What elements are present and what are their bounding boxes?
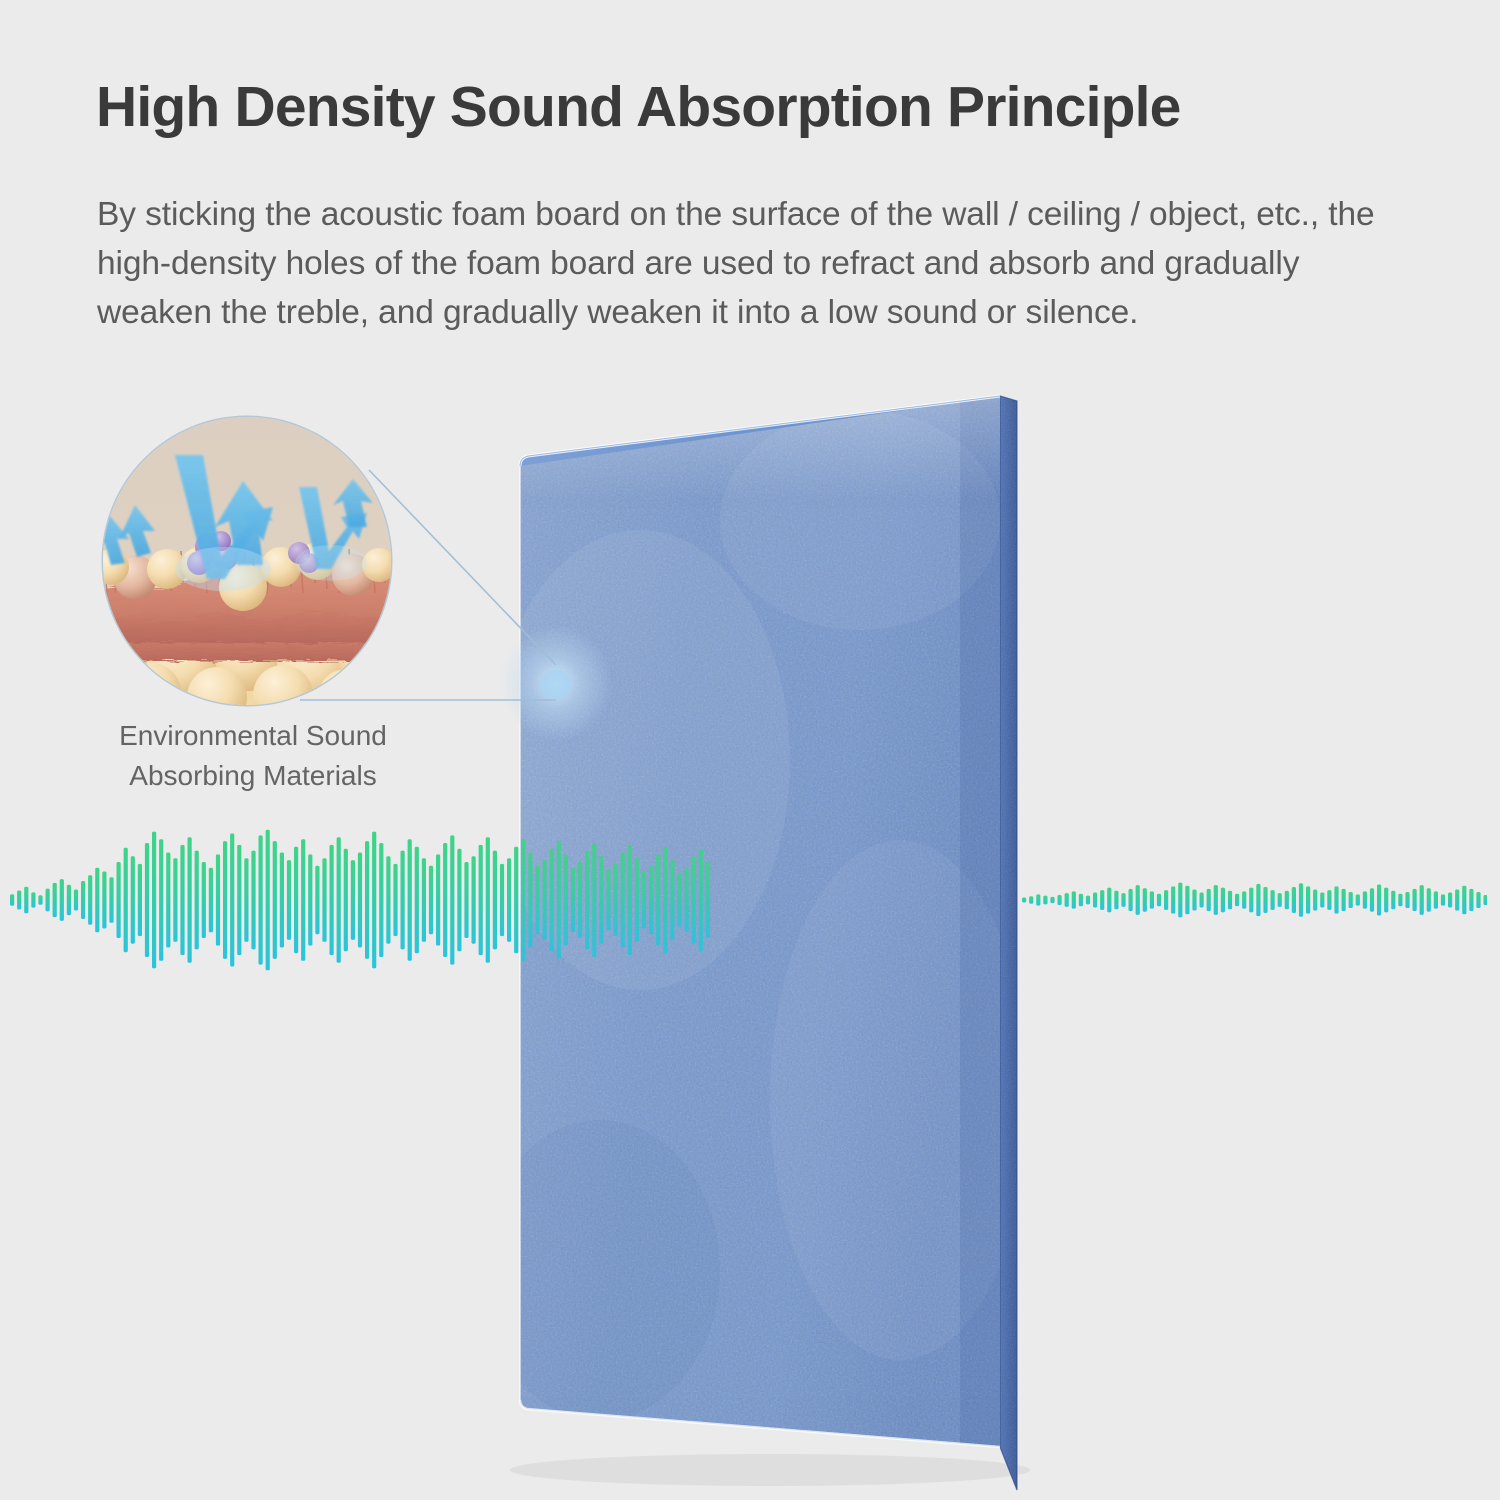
description-paragraph: By sticking the acoustic foam board on t…: [97, 190, 1417, 338]
panel-front-face: [480, 380, 1040, 1500]
magnifier-caption-line1: Environmental Sound: [88, 716, 418, 756]
magnifier-caption: Environmental Sound Absorbing Materials: [88, 716, 418, 796]
zoom-source-highlight: [500, 625, 612, 741]
infographic-canvas: Environmental Sound Absorbing Materials …: [0, 0, 1500, 1500]
magnified-material-circle: [103, 417, 391, 705]
page-title: High Density Sound Absorption Principle: [96, 78, 1426, 138]
magnifier-caption-line2: Absorbing Materials: [88, 756, 418, 796]
